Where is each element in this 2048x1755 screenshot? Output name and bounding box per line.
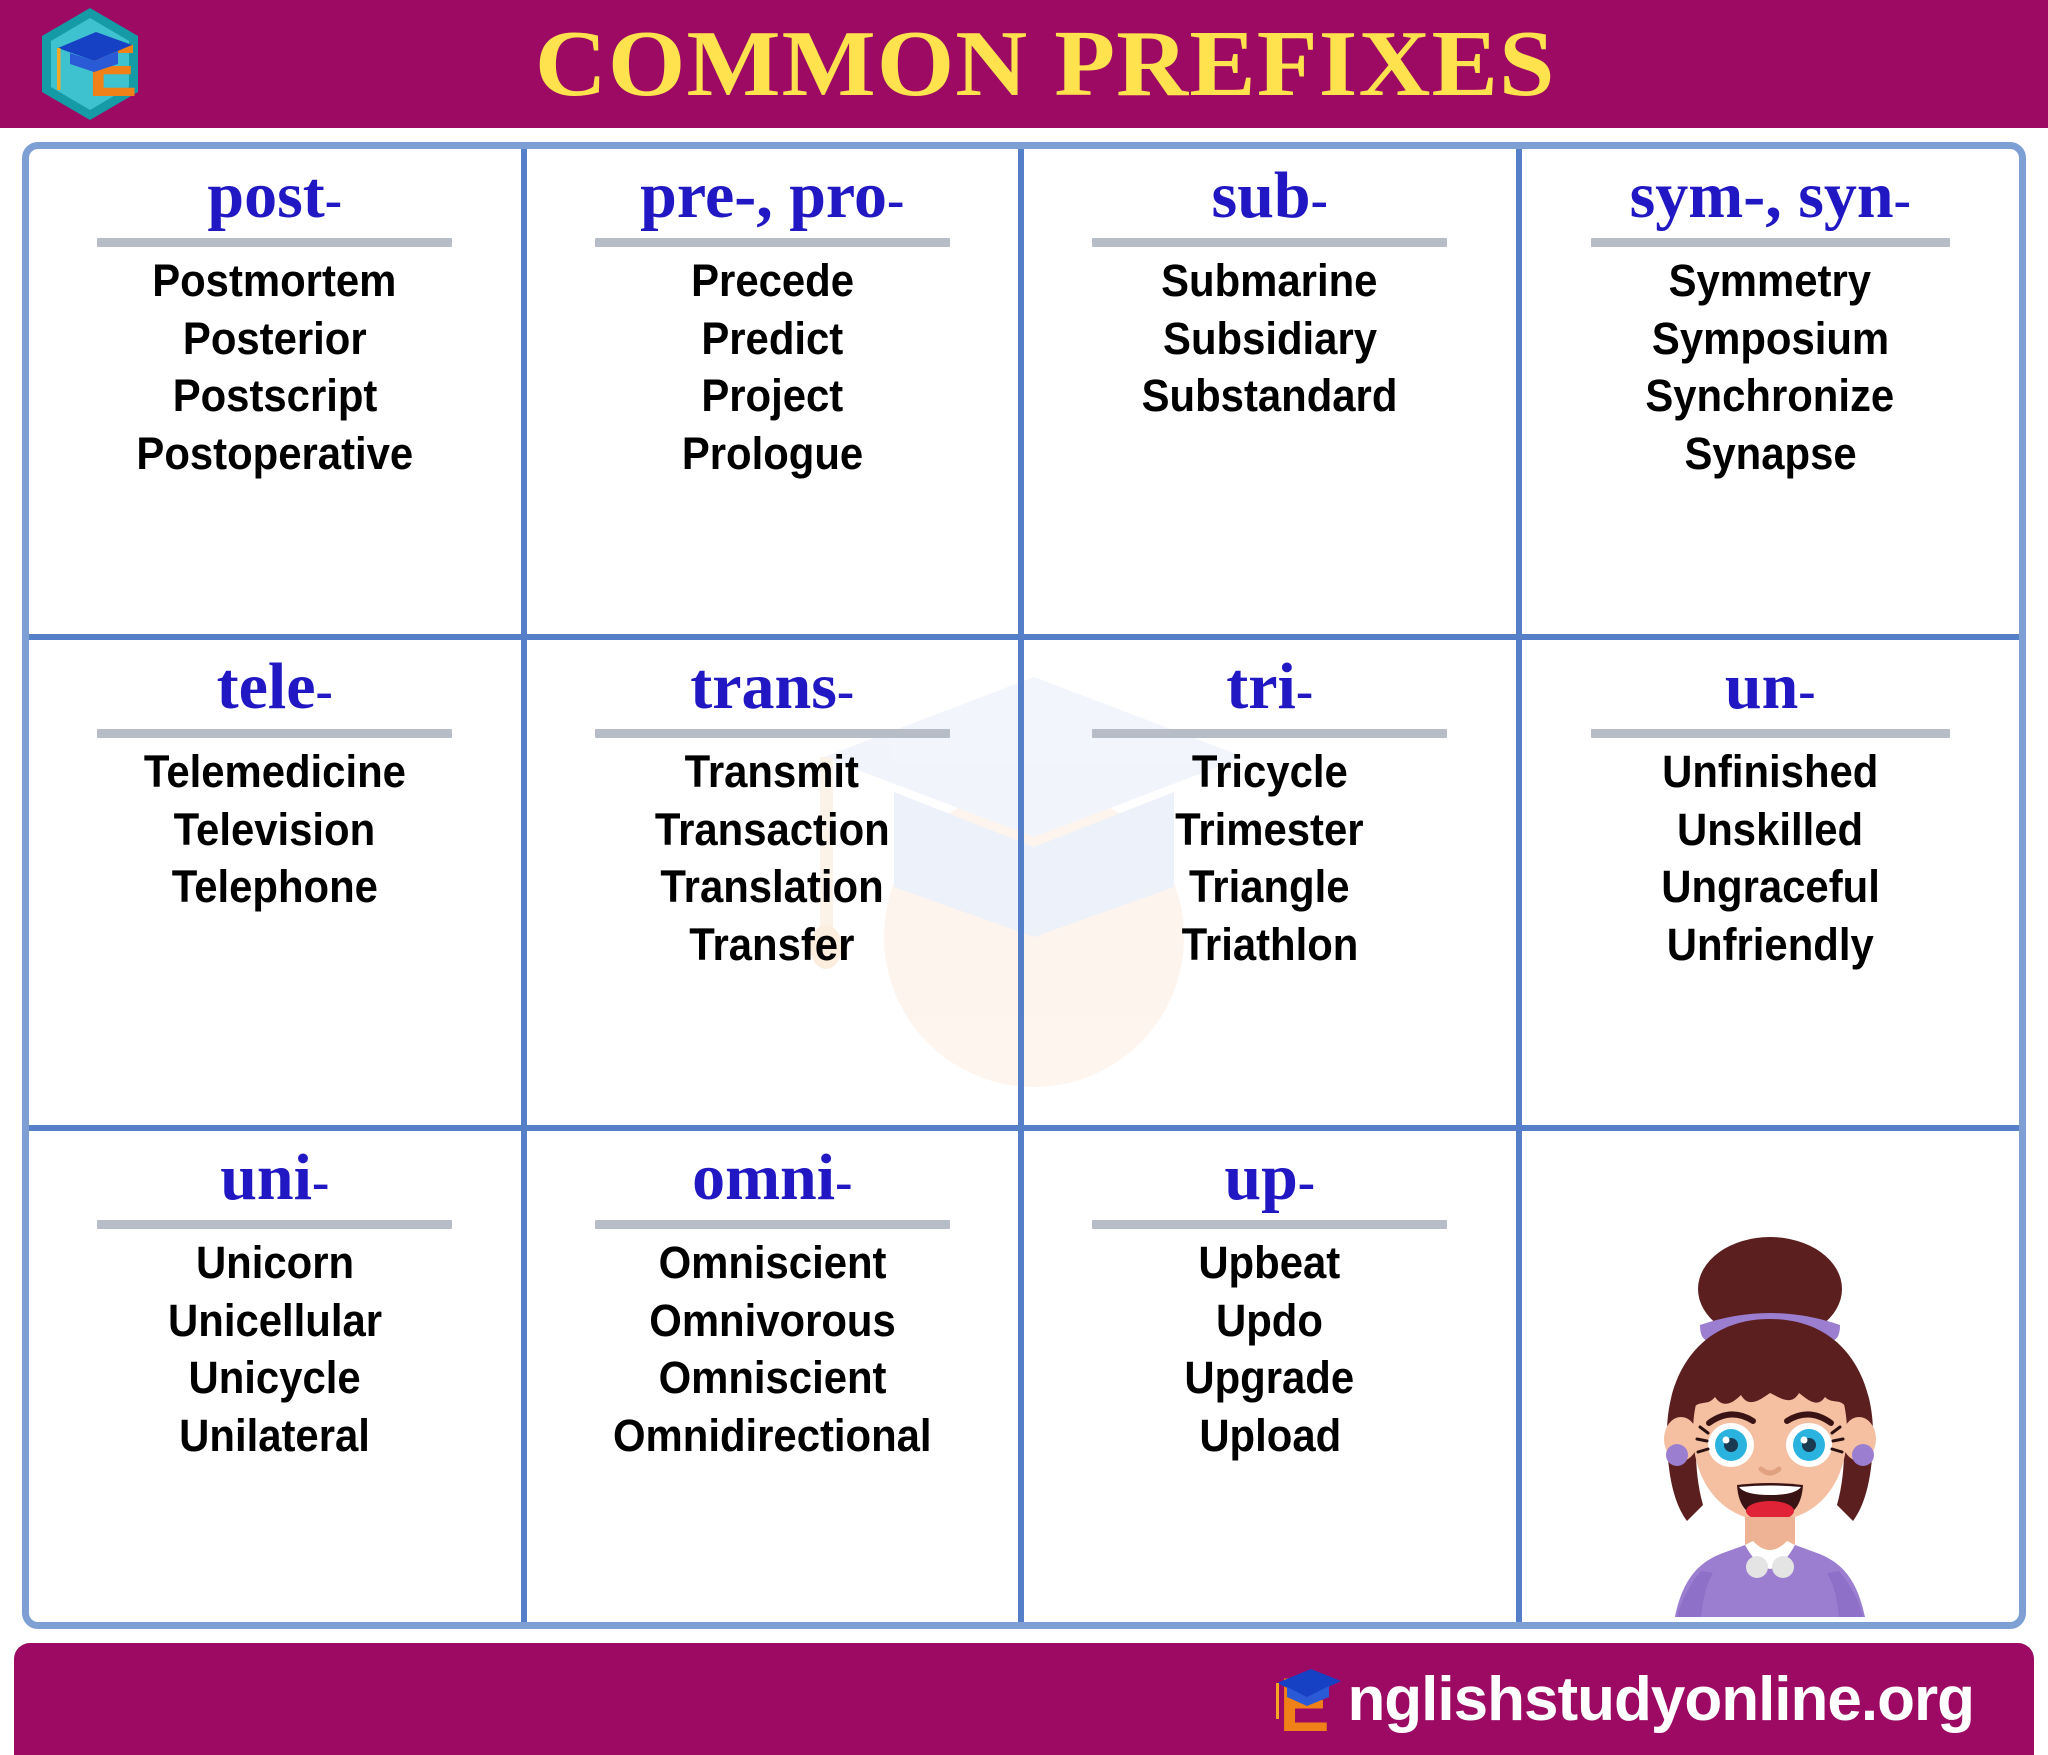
word-item: Omniscient: [658, 1354, 886, 1403]
word-list: Transmit Transaction Translation Transfe…: [533, 748, 1013, 969]
word-item: Television: [174, 806, 376, 855]
word-item: Posterior: [183, 315, 367, 364]
word-item: Postscript: [172, 372, 377, 421]
board-wrapper: post- Postmortem Posterior Postscript Po…: [0, 128, 2048, 1639]
word-item: Unicycle: [189, 1354, 361, 1403]
divider-rule: [97, 729, 452, 738]
divider-rule: [1092, 238, 1447, 247]
prefix-heading: post-: [207, 161, 342, 230]
word-item: Ungraceful: [1661, 863, 1880, 912]
word-item: Subsidiary: [1163, 315, 1377, 364]
word-item: Postmortem: [153, 257, 397, 306]
divider-rule: [1092, 729, 1447, 738]
word-list: Tricycle Trimester Triangle Triathlon: [1030, 748, 1510, 969]
word-item: Unicellular: [168, 1297, 382, 1346]
header-bar: E COMMON PREFIXES: [0, 0, 2048, 128]
word-item: Unfriendly: [1667, 921, 1874, 970]
word-list: Unfinished Unskilled Ungraceful Unfriend…: [1528, 748, 2014, 969]
word-item: Symposium: [1652, 315, 1889, 364]
footer-bar: E nglishstudyonline.org: [14, 1643, 2034, 1755]
word-item: Symmetry: [1669, 257, 1871, 306]
prefix-heading: pre-, pro-: [640, 161, 904, 230]
word-item: Precede: [691, 257, 854, 306]
prefix-cell-tri[interactable]: tri- Tricycle Trimester Triangle Triathl…: [1024, 640, 1522, 1131]
prefix-cell-sym-syn[interactable]: sym-, syn- Symmetry Symposium Synchroniz…: [1522, 149, 2020, 640]
site-brand[interactable]: E nglishstudyonline.org: [1267, 1653, 1974, 1745]
word-list: Postmortem Posterior Postscript Postoper…: [35, 257, 515, 478]
divider-rule: [1092, 1220, 1447, 1229]
prefix-cell-pre-pro[interactable]: pre-, pro- Precede Predict Project Prolo…: [527, 149, 1025, 640]
word-item: Trimester: [1176, 806, 1364, 855]
word-item: Tricycle: [1192, 748, 1348, 797]
prefix-heading: uni-: [220, 1143, 329, 1212]
prefix-heading: trans-: [690, 652, 854, 721]
word-item: Submarine: [1162, 257, 1378, 306]
word-item: Unicorn: [196, 1239, 354, 1288]
word-item: Upload: [1199, 1412, 1341, 1461]
word-item: Omnivorous: [649, 1297, 895, 1346]
word-item: Synapse: [1684, 430, 1856, 479]
prefix-cell-trans[interactable]: trans- Transmit Transaction Translation …: [527, 640, 1025, 1131]
prefix-cell-tele[interactable]: tele- Telemedicine Television Telephone: [29, 640, 527, 1131]
divider-rule: [97, 1220, 452, 1229]
word-item: Triathlon: [1181, 921, 1358, 970]
divider-rule: [1591, 729, 1950, 738]
site-url-label: nglishstudyonline.org: [1347, 1664, 1974, 1735]
word-item: Translation: [661, 863, 884, 912]
divider-rule: [595, 1220, 950, 1229]
word-list: Telemedicine Television Telephone: [35, 748, 515, 912]
word-item: Predict: [701, 315, 843, 364]
word-item: Project: [701, 372, 843, 421]
word-item: Unfinished: [1662, 748, 1878, 797]
page-title: COMMON PREFIXES: [0, 17, 2048, 111]
word-list: Upbeat Updo Upgrade Upload: [1030, 1239, 1510, 1460]
word-item: Omniscient: [658, 1239, 886, 1288]
prefix-cell-un[interactable]: un- Unfinished Unskilled Ungraceful Unfr…: [1522, 640, 2020, 1131]
divider-rule: [97, 238, 452, 247]
word-item: Postoperative: [136, 430, 413, 479]
prefix-heading: tri-: [1226, 652, 1313, 721]
prefix-heading: up-: [1224, 1143, 1315, 1212]
prefix-cell-uni[interactable]: uni- Unicorn Unicellular Unicycle Unilat…: [29, 1131, 527, 1622]
word-item: Substandard: [1142, 372, 1398, 421]
word-item: Omnidirectional: [613, 1412, 932, 1461]
word-list: Omniscient Omnivorous Omniscient Omnidir…: [533, 1239, 1013, 1460]
word-item: Unilateral: [179, 1412, 370, 1461]
prefix-heading: sym-, syn-: [1630, 161, 1911, 230]
word-item: Telemedicine: [144, 748, 406, 797]
word-list: Unicorn Unicellular Unicycle Unilateral: [35, 1239, 515, 1460]
word-item: Transmit: [685, 748, 859, 797]
divider-rule: [595, 238, 950, 247]
girl-avatar-illustration-icon: [1605, 1237, 1935, 1622]
infographic-poster: E COMMON PREFIXES: [0, 0, 2048, 1755]
word-item: Telephone: [172, 863, 378, 912]
prefix-cell-up[interactable]: up- Upbeat Updo Upgrade Upload: [1024, 1131, 1522, 1622]
prefix-cell-sub[interactable]: sub- Submarine Subsidiary Substandard: [1024, 149, 1522, 640]
prefix-heading: tele-: [217, 652, 333, 721]
prefix-heading: sub-: [1212, 161, 1328, 230]
word-item: Updo: [1216, 1297, 1323, 1346]
word-item: Transaction: [655, 806, 890, 855]
graduation-cap-e-logo-icon: E: [1267, 1653, 1359, 1745]
prefix-grid: post- Postmortem Posterior Postscript Po…: [22, 142, 2026, 1629]
word-item: Prologue: [682, 430, 863, 479]
prefix-cell-omni[interactable]: omni- Omniscient Omnivorous Omniscient O…: [527, 1131, 1025, 1622]
girl-avatar-cell: [1522, 1131, 2020, 1622]
prefix-heading: un-: [1725, 652, 1816, 721]
word-list: Submarine Subsidiary Substandard: [1030, 257, 1510, 421]
prefix-heading: omni-: [692, 1143, 852, 1212]
word-item: Upgrade: [1185, 1354, 1355, 1403]
prefix-cell-post[interactable]: post- Postmortem Posterior Postscript Po…: [29, 149, 527, 640]
word-item: Unskilled: [1677, 806, 1863, 855]
word-item: Transfer: [690, 921, 855, 970]
divider-rule: [1591, 238, 1950, 247]
word-list: Precede Predict Project Prologue: [533, 257, 1013, 478]
word-list: Symmetry Symposium Synchronize Synapse: [1528, 257, 2014, 478]
word-item: Synchronize: [1646, 372, 1895, 421]
divider-rule: [595, 729, 950, 738]
word-item: Upbeat: [1199, 1239, 1341, 1288]
word-item: Triangle: [1190, 863, 1350, 912]
